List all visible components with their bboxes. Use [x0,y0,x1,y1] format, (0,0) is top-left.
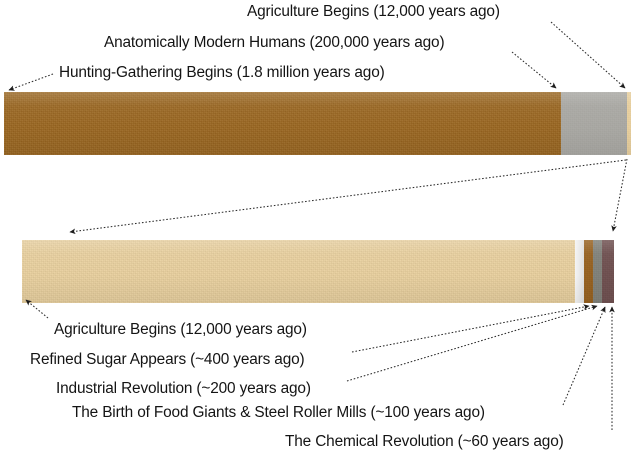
segment-anatomically-modern-humans[interactable] [561,92,626,155]
label-anatomically-modern-humans: Anatomically Modern Humans (200,000 year… [104,35,444,50]
leader-expansion-right [613,159,627,231]
segment-hunting-gathering[interactable] [4,92,561,155]
label-industrial-revolution: Industrial Revolution (~200 years ago) [56,381,311,396]
leader-refined-sugar [352,306,589,352]
agriculture-era-bar[interactable] [22,240,614,303]
segment-chemical-revolution[interactable] [602,240,614,303]
leader-industrial-revolution [347,306,597,381]
segment-agriculture-bottom[interactable] [22,240,575,303]
segment-refined-sugar[interactable] [575,240,584,303]
leader-hunting-gathering [9,74,53,90]
segment-food-giants[interactable] [593,240,602,303]
segment-industrial-revolution[interactable] [584,240,593,303]
leader-expansion-left [70,160,626,232]
segment-agriculture-top[interactable] [627,92,631,155]
leader-anatomically-modern-humans [512,52,556,88]
label-refined-sugar: Refined Sugar Appears (~400 years ago) [30,352,305,367]
label-agriculture-bottom: Agriculture Begins (12,000 years ago) [54,322,307,337]
label-food-giants: The Birth of Food Giants & Steel Roller … [72,405,485,420]
label-chemical-revolution: The Chemical Revolution (~60 years ago) [285,434,564,449]
leader-food-giants [563,307,605,405]
deep-time-bar[interactable] [4,92,631,155]
infographic-canvas: Agriculture Begins (12,000 years ago) An… [0,0,631,454]
label-hunting-gathering: Hunting-Gathering Begins (1.8 million ye… [59,65,385,80]
label-agriculture-top: Agriculture Begins (12,000 years ago) [247,4,500,19]
leader-agriculture-top [551,22,625,88]
